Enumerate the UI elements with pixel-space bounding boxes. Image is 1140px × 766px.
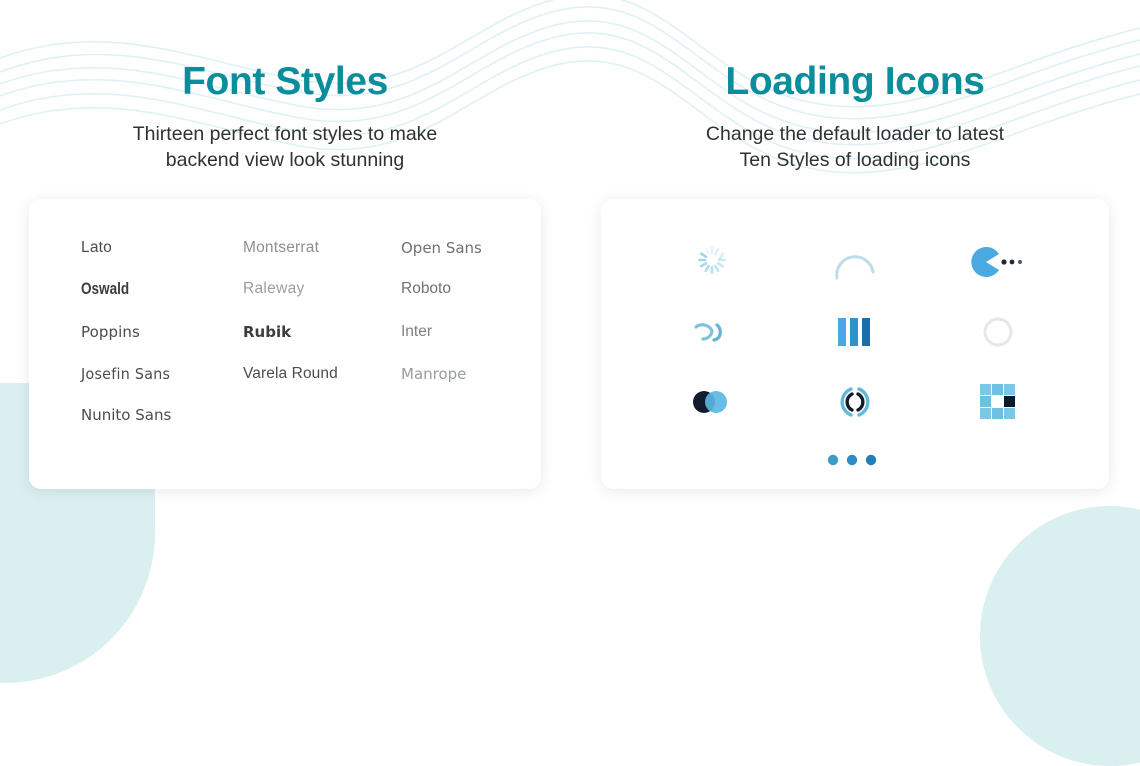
spinner-dashes-icon[interactable] [682, 232, 742, 292]
font-item-rubik[interactable]: Rubik [243, 323, 401, 342]
page-root: Font Styles Thirteen perfect font styles… [0, 0, 1140, 578]
loader-last-row [641, 437, 1069, 483]
page-title-loading-icons: Loading Icons [725, 0, 984, 104]
loader-list [641, 227, 1069, 437]
font-item-josefin-sans[interactable]: Josefin Sans [81, 365, 230, 384]
panel-loading-icons: Loading Icons Change the default loader … [570, 0, 1140, 578]
ring-icon[interactable] [968, 302, 1028, 362]
grid-squares-icon[interactable] [968, 372, 1028, 432]
three-bars-icon[interactable] [825, 302, 885, 362]
page-title-font-styles: Font Styles [182, 0, 388, 104]
split-ring-icon[interactable] [825, 372, 885, 432]
font-item-poppins[interactable]: Poppins [81, 323, 243, 342]
subtitle-font-styles: Thirteen perfect font styles to make bac… [133, 104, 438, 174]
pacman-loader-icon[interactable] [968, 232, 1028, 292]
arc-spinner-icon[interactable] [825, 232, 885, 292]
font-list: Lato Montserrat Open Sans Oswald Raleway… [81, 239, 493, 425]
dual-arc-icon[interactable] [682, 302, 742, 362]
font-item-nunito-sans[interactable]: Nunito Sans [81, 406, 243, 424]
three-dots-icon[interactable] [825, 430, 885, 490]
font-item-open-sans[interactable]: Open Sans [401, 239, 493, 258]
font-item-manrope[interactable]: Manrope [401, 365, 493, 384]
font-item-oswald[interactable]: Oswald [81, 280, 214, 300]
panel-font-styles: Font Styles Thirteen perfect font styles… [0, 0, 570, 578]
loading-icons-card [601, 199, 1109, 489]
font-item-montserrat[interactable]: Montserrat [243, 239, 401, 258]
two-circles-icon[interactable] [682, 372, 742, 432]
font-item-lato[interactable]: Lato [81, 239, 243, 258]
font-item-inter[interactable]: Inter [401, 323, 493, 342]
font-item-roboto[interactable]: Roboto [401, 280, 493, 300]
font-item-raleway[interactable]: Raleway [243, 280, 401, 300]
font-item-varela-round[interactable]: Varela Round [243, 365, 401, 384]
subtitle-loading-icons: Change the default loader to latest Ten … [706, 104, 1004, 174]
font-styles-card: Lato Montserrat Open Sans Oswald Raleway… [29, 199, 541, 489]
